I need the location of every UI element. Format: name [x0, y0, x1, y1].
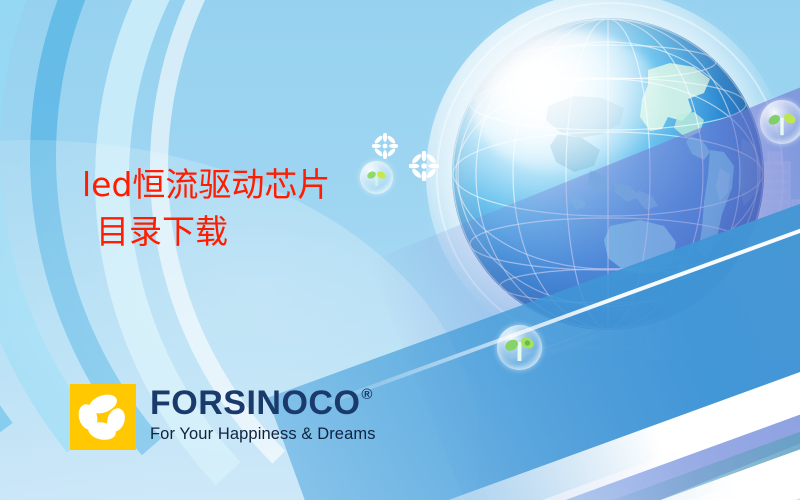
logo-mark	[70, 384, 136, 450]
logo-wordmark: FORSINOCO	[150, 386, 360, 420]
green-sprout-icon	[497, 325, 542, 370]
green-sprout-icon	[360, 161, 393, 194]
logo-wordmark-row: FORSINOCO ®	[150, 386, 376, 420]
logo-text-block: FORSINOCO ® For Your Happiness & Dreams	[150, 384, 376, 444]
promotional-banner: led恒流驱动芯片 目录下载 FORSINOCO ® For Your Happ…	[0, 0, 800, 500]
bubble-small-left	[360, 161, 393, 194]
headline-line-2: 目录下载	[82, 209, 330, 256]
headline: led恒流驱动芯片 目录下载	[82, 162, 330, 256]
logo-tagline: For Your Happiness & Dreams	[150, 425, 376, 444]
bubble-right-edge	[760, 100, 800, 144]
registered-trademark-icon: ®	[361, 387, 373, 402]
globe-rim-shading	[452, 18, 764, 330]
headline-line-1: led恒流驱动芯片	[82, 162, 330, 209]
company-logo[interactable]: FORSINOCO ® For Your Happiness & Dreams	[70, 384, 376, 450]
green-sprout-icon	[760, 100, 800, 144]
white-daisy-flower-icon-1	[372, 133, 398, 159]
bubble-lower-center	[497, 325, 542, 370]
four-petal-pinwheel-icon	[70, 384, 136, 450]
glossy-blue-globe	[452, 18, 764, 330]
white-daisy-flower-icon-2	[409, 151, 439, 181]
